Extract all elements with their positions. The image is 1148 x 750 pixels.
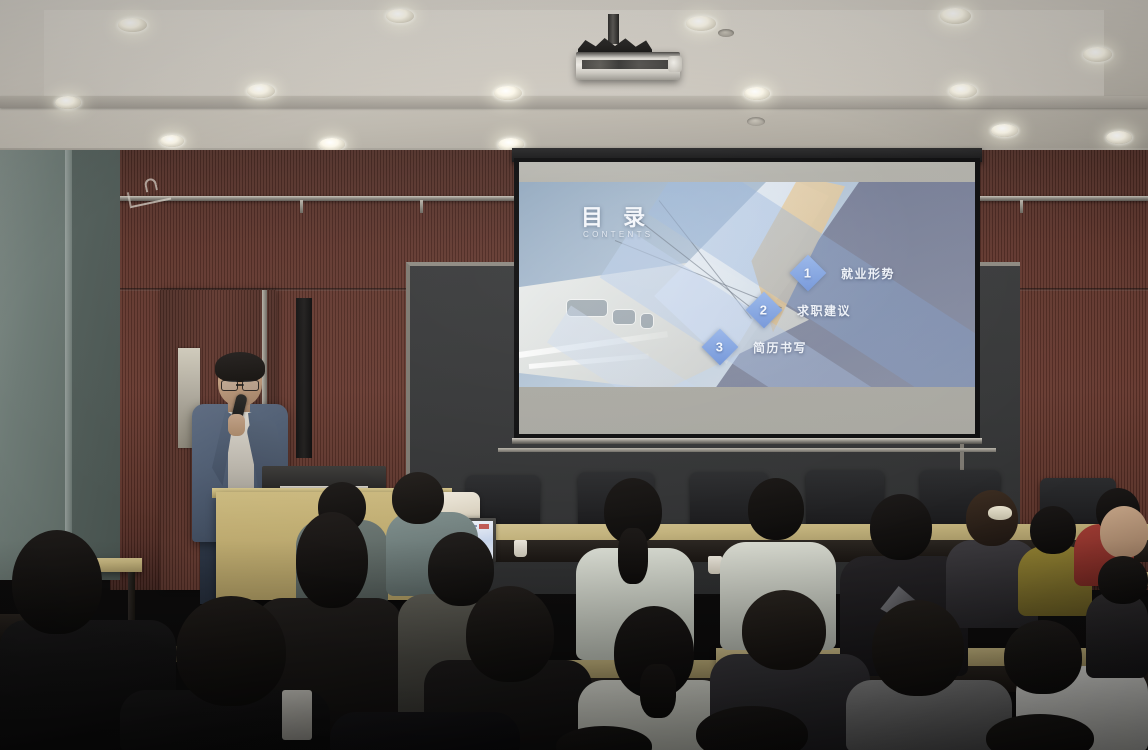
wall-left-return [72,150,120,580]
paper-cup [514,540,527,557]
ceiling-downlight [686,16,716,31]
ceiling-downlight [991,124,1018,137]
ceiling-downlight [940,8,971,24]
ceiling-downlight [118,18,147,32]
projection-screen: 目 录 CONTENTS 1 就业形势 2 求职建议 3 简历书写 [519,162,975,434]
slide-toc-item-2: 2 求职建议 [751,297,851,323]
projection-screen-weight-bar [512,438,982,444]
toc-number: 1 [804,265,811,280]
ceiling-vent-icon [747,117,765,126]
rail-hook-icon [420,200,423,213]
ceiling [0,0,1148,168]
ceiling-downlight [949,84,977,98]
toc-number-badge: 1 [790,255,827,292]
projector-lens-icon [668,56,682,72]
ceiling-soffit-upper [0,96,1148,108]
toc-number: 2 [760,302,767,317]
lecture-hall-photo: 目 录 CONTENTS 1 就业形势 2 求职建议 3 简历书写 [0,0,1148,750]
slide-hull-window [641,314,653,328]
toc-number-badge: 3 [702,329,739,366]
slide-subtitle: CONTENTS [583,230,653,239]
ceiling-downlight [55,96,81,109]
ceiling-downlight [1083,47,1112,62]
presentation-slide: 目 录 CONTENTS 1 就业形势 2 求职建议 3 简历书写 [519,182,975,387]
wall-rail-lower [498,448,996,452]
rail-hook-icon [1020,200,1023,213]
toc-number: 3 [716,339,723,354]
toc-label: 简历书写 [753,339,807,356]
ceiling-recess-panel [44,10,1104,98]
ceiling-vent-icon [718,29,734,37]
speaker-hair [215,352,265,382]
ceiling-downlight [386,9,414,23]
slide-title: 目 录 [581,200,652,232]
slide-toc-item-1: 1 就业形势 [795,260,895,286]
projector-mount-rod [608,14,619,44]
wall-left-painted [0,150,72,580]
rail-hook-icon [300,200,303,213]
toc-label: 就业形势 [841,265,895,282]
ceiling-downlight [247,84,275,98]
slide-toc-item-3: 3 简历书写 [707,334,807,360]
speaker-hand [228,414,245,436]
wall-dark-slot [296,298,312,458]
ceiling-downlight [494,86,522,100]
ceiling-downlight [744,87,770,100]
toc-number-badge: 2 [746,292,783,329]
ceiling-downlight [160,135,184,147]
toc-label: 求职建议 [797,302,851,319]
eyeglasses-icon [221,380,259,389]
ceiling-downlight [1106,131,1132,144]
projector-vent-grille [582,60,674,69]
slide-hull-window [613,310,635,324]
